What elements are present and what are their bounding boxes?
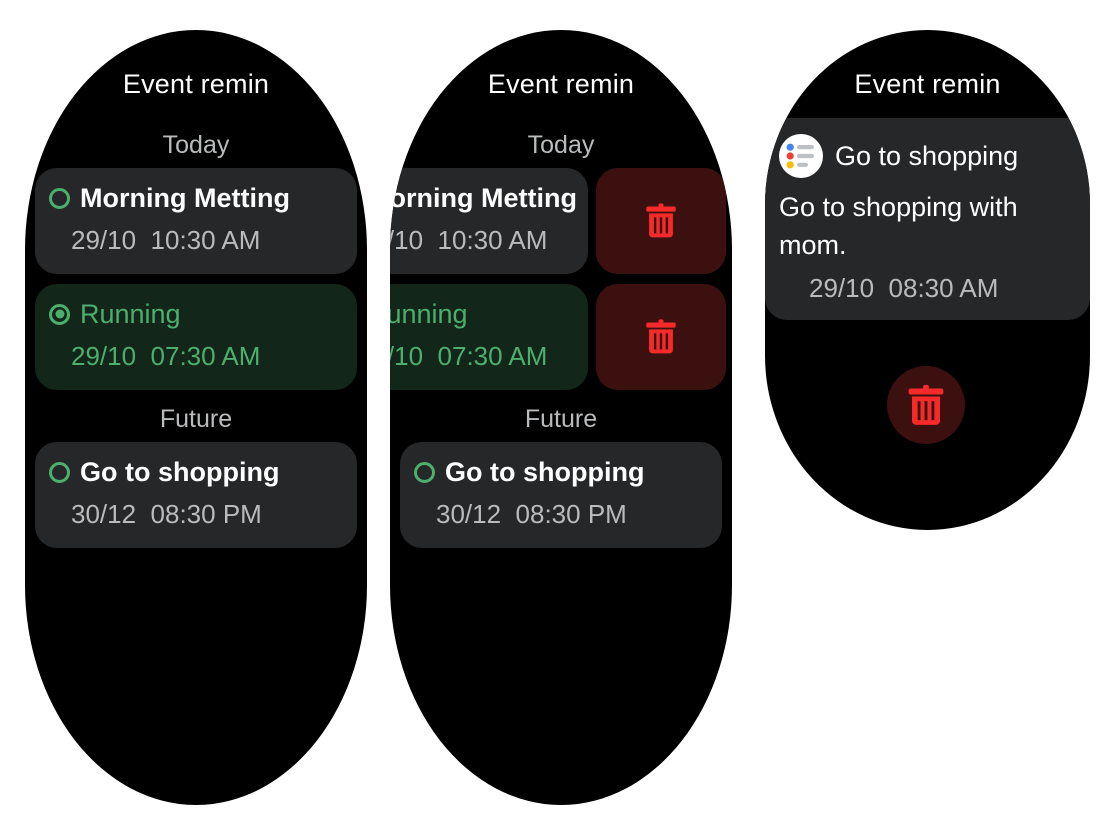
event-time: 08:30 PM: [151, 499, 262, 529]
section-header-today: Today: [35, 130, 357, 160]
delete-button[interactable]: [596, 168, 726, 274]
event-list: Today Morning Metting 29/10 10:30 AM: [25, 130, 367, 548]
screen-content: Event remin Today Morning Metting 29/10 …: [390, 30, 732, 805]
trash-icon: [644, 318, 678, 356]
event-datetime: 29/10 07:30 AM: [390, 340, 572, 372]
event-title-row: Morning Metting: [390, 182, 572, 214]
google-tasks-icon: [779, 134, 823, 178]
event-card[interactable]: Morning Metting 29/10 10:30 AM: [35, 168, 357, 274]
event-time: 07:30 AM: [151, 341, 261, 371]
circle-outline-icon[interactable]: [49, 462, 70, 483]
delete-button[interactable]: [887, 366, 965, 444]
list-item[interactable]: Go to shopping 30/12 08:30 PM: [390, 442, 732, 548]
list-item[interactable]: Running 29/10 07:30 AM: [390, 284, 732, 390]
watch-screen-list: Event remin Today Morning Metting 29/10 …: [25, 30, 367, 805]
detail-time: 08:30 AM: [889, 273, 999, 303]
event-date: 30/12: [71, 499, 136, 529]
detail-date: 29/10: [809, 273, 874, 303]
event-title-row: Morning Metting: [49, 182, 341, 214]
trash-icon: [906, 383, 946, 428]
event-datetime: 29/10 07:30 AM: [49, 340, 341, 372]
event-detail-card: Go to shopping Go to shopping with mom. …: [765, 118, 1090, 320]
screen-content: Event remin Go to shopping Go to shoppin…: [765, 30, 1090, 530]
watch-screen-detail: Event remin Go to shopping Go to shoppin…: [765, 30, 1090, 530]
watch-screen-swipe-delete: Event remin Today Morning Metting 29/10 …: [390, 30, 732, 805]
circle-outline-icon[interactable]: [49, 188, 70, 209]
event-datetime: 30/12 08:30 PM: [49, 498, 341, 530]
list-item[interactable]: Morning Metting 29/10 10:30 AM: [35, 168, 357, 274]
page-title: Event remin: [390, 68, 732, 100]
screen-content: Event remin Today Morning Metting 29/10 …: [25, 30, 367, 805]
detail-datetime: 29/10 08:30 AM: [779, 272, 1076, 304]
circle-filled-icon[interactable]: [49, 304, 70, 325]
detail-heading: Go to shopping: [835, 140, 1018, 172]
event-datetime: 29/10 10:30 AM: [390, 224, 572, 256]
page-title: Event remin: [25, 68, 367, 100]
event-date: 29/10: [71, 225, 136, 255]
detail-header: Go to shopping: [779, 134, 1076, 178]
detail-description: Go to shopping with mom.: [779, 188, 1076, 264]
list-item[interactable]: Go to shopping 30/12 08:30 PM: [35, 442, 357, 548]
event-title: Running: [390, 298, 468, 330]
event-card[interactable]: Morning Metting 29/10 10:30 AM: [390, 168, 588, 274]
event-title: Go to shopping: [80, 456, 279, 488]
circle-outline-icon[interactable]: [414, 462, 435, 483]
spacer: [35, 390, 357, 404]
event-title: Go to shopping: [445, 456, 644, 488]
event-time: 07:30 AM: [438, 341, 548, 371]
event-time: 10:30 AM: [151, 225, 261, 255]
event-time: 10:30 AM: [438, 225, 548, 255]
event-title-row: Running: [49, 298, 341, 330]
event-title-row: Go to shopping: [414, 456, 706, 488]
event-title: Running: [80, 298, 181, 330]
event-card[interactable]: Go to shopping 30/12 08:30 PM: [400, 442, 722, 548]
spacer: [390, 390, 732, 404]
event-card[interactable]: Go to shopping 30/12 08:30 PM: [35, 442, 357, 548]
event-date: 29/10: [390, 225, 423, 255]
list-item[interactable]: Morning Metting 29/10 10:30 AM: [390, 168, 732, 274]
event-card[interactable]: Running 29/10 07:30 AM: [390, 284, 588, 390]
event-datetime: 30/12 08:30 PM: [414, 498, 706, 530]
trash-icon: [644, 202, 678, 240]
tasks-glyph: [786, 143, 816, 169]
event-time: 08:30 PM: [516, 499, 627, 529]
page-title: Event remin: [765, 68, 1090, 100]
event-title: Morning Metting: [390, 182, 577, 214]
event-title-row: Go to shopping: [49, 456, 341, 488]
section-header-future: Future: [35, 404, 357, 434]
event-list: Today Morning Metting 29/10 10:30 AM: [390, 130, 732, 548]
delete-button[interactable]: [596, 284, 726, 390]
event-date: 29/10: [71, 341, 136, 371]
event-datetime: 29/10 10:30 AM: [49, 224, 341, 256]
event-date: 30/12: [436, 499, 501, 529]
section-header-today: Today: [390, 130, 732, 160]
event-title-row: Running: [390, 298, 572, 330]
list-item[interactable]: Running 29/10 07:30 AM: [35, 284, 357, 390]
event-card[interactable]: Running 29/10 07:30 AM: [35, 284, 357, 390]
section-header-future: Future: [390, 404, 732, 434]
event-title: Morning Metting: [80, 182, 290, 214]
event-date: 29/10: [390, 341, 423, 371]
